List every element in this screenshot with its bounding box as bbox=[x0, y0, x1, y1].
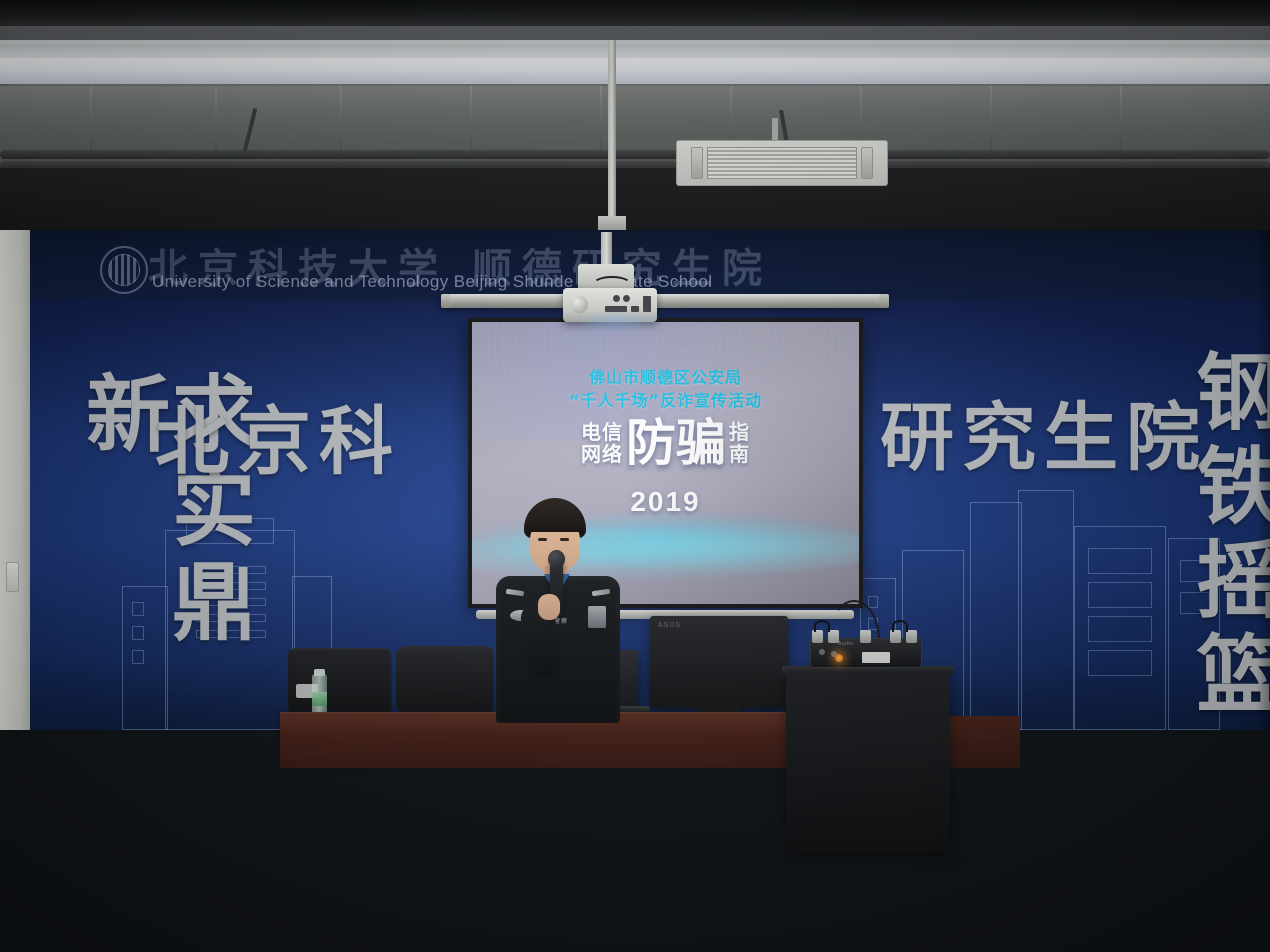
slide-year: 2019 bbox=[630, 486, 700, 518]
monitor-brand-label: ASUS bbox=[658, 622, 681, 629]
projector-cable bbox=[592, 276, 632, 294]
slide-left-bottom: 网络 bbox=[581, 443, 623, 465]
mic-antenna-cable bbox=[814, 620, 830, 632]
slide-right-bottom: 南 bbox=[729, 443, 750, 465]
projector-lens-icon bbox=[571, 296, 588, 313]
ceiling-beam bbox=[0, 26, 1270, 40]
ustb-logo-inner bbox=[108, 254, 140, 286]
speaker-eye bbox=[538, 538, 547, 541]
slide-headline-row: 电信 网络 防骗 指 南 bbox=[581, 418, 750, 468]
microphone-head-icon bbox=[548, 550, 565, 568]
ustb-logo-icon bbox=[100, 246, 148, 294]
ceiling-cassette-ac-icon bbox=[676, 140, 888, 186]
ac-vane bbox=[691, 147, 703, 179]
power-led-indicator bbox=[835, 654, 843, 662]
wall-text-mid-left: 北京科 bbox=[155, 382, 401, 489]
fluorescent-strip-light-icon bbox=[0, 58, 1270, 84]
slide-org-line: 佛山市顺德区公安局 bbox=[589, 366, 742, 389]
ceiling-shadow-band bbox=[0, 168, 1270, 232]
screen-housing-cap bbox=[879, 294, 889, 308]
conduit-pipe bbox=[0, 150, 1270, 159]
wall-right-shadow bbox=[1256, 230, 1270, 730]
light-switch[interactable] bbox=[6, 562, 19, 592]
slide-event-line: “千人千场”反诈宣传活动 bbox=[569, 389, 762, 412]
mixer-brand-label: Audio bbox=[838, 641, 853, 647]
lecture-hall-photo: 求实鼎新 钢铁摇篮 北京科 研究生院 北京科技大学 顺德研究生院 Univers… bbox=[0, 0, 1270, 952]
ceiling-area bbox=[0, 0, 1270, 232]
uniform-patch bbox=[588, 606, 606, 628]
ac-grille bbox=[707, 147, 857, 179]
screen-housing-cap bbox=[441, 294, 451, 308]
slide-left-col: 电信 网络 bbox=[581, 421, 623, 466]
slide-right-top: 指 bbox=[729, 421, 750, 443]
slide-left-top: 电信 bbox=[581, 421, 623, 443]
speaker-hair-front bbox=[526, 512, 584, 532]
projector-mount-pipe bbox=[601, 232, 612, 266]
speaker-hand bbox=[538, 594, 560, 620]
ac-vane bbox=[861, 147, 873, 179]
mic-antenna-cable bbox=[892, 620, 908, 632]
mixer-display-panel bbox=[862, 652, 890, 663]
slide-headline: 防骗 bbox=[626, 418, 726, 468]
screen-roller-housing bbox=[441, 294, 889, 308]
insulated-duct bbox=[0, 86, 1270, 172]
ac-support-stem bbox=[772, 118, 778, 142]
slide-right-col: 指 南 bbox=[729, 421, 750, 466]
ceiling-hanger-pole bbox=[608, 40, 616, 232]
projector-light-beam bbox=[572, 316, 662, 334]
speaker-eye bbox=[560, 538, 569, 541]
side-wall-left bbox=[0, 230, 30, 730]
mic-receiver-plug bbox=[860, 630, 871, 643]
wall-text-mid-right: 研究生院 bbox=[880, 378, 1208, 485]
seated-audience bbox=[0, 690, 1270, 952]
